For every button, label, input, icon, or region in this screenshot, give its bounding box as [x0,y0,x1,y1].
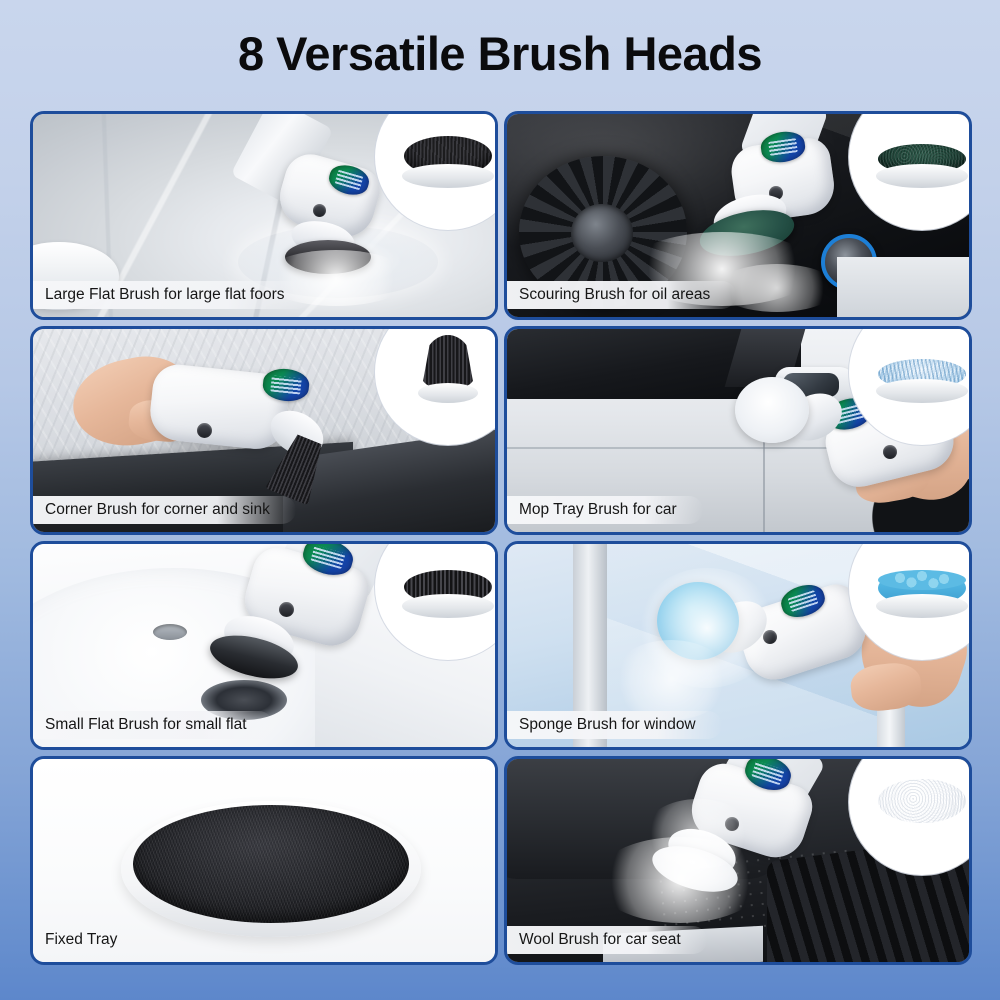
power-button[interactable] [763,630,777,644]
white-wool-pad-icon [874,771,970,833]
attached-mop-tray-pad [735,377,809,443]
black-velcro-tray-disc-icon [133,805,409,923]
panel-mop-tray-brush[interactable]: Mop Tray Brush for car [504,326,972,535]
power-button[interactable] [883,445,897,459]
panel-sponge-brush[interactable]: Sponge Brush for window [504,541,972,750]
panel-caption: Mop Tray Brush for car [507,496,703,524]
attached-sponge-head [657,582,739,660]
green-scouring-pad-icon [874,126,970,188]
panel-corner-brush[interactable]: Corner Brush for corner and sink [30,326,498,535]
page-title: 8 Versatile Brush Heads [0,26,1000,81]
overflow-hole [153,624,187,640]
panel-wool-brush[interactable]: Wool Brush for car seat [504,756,972,965]
door-watermark [527,421,532,435]
panel-caption: Sponge Brush for window [507,711,722,739]
panel-scouring-brush[interactable]: Scouring Brush for oil areas [504,111,972,320]
panel-caption: Wool Brush for car seat [507,926,707,954]
burner-cap [571,204,633,262]
panel-caption: Fixed Tray [33,926,143,954]
power-button[interactable] [313,204,326,217]
panel-caption: Scouring Brush for oil areas [507,281,736,309]
panel-caption: Large Flat Brush for large flat foors [33,281,311,309]
attached-brush-head [285,240,371,274]
blue-microfiber-mop-pad-icon [874,341,970,403]
panel-small-flat-brush[interactable]: Small Flat Brush for small flat [30,541,498,750]
panel-fixed-tray[interactable]: Fixed Tray [30,756,498,965]
blue-honeycomb-sponge-icon [874,556,970,618]
corner-cone-brush-head-icon [400,341,496,403]
power-button[interactable] [725,817,739,831]
large-flat-brush-head-icon [400,126,496,188]
power-button[interactable] [279,602,294,617]
small-flat-brush-head-icon [400,556,496,618]
brush-head-panel-grid: Large Flat Brush for large flat foors [27,108,973,974]
panel-caption: Corner Brush for corner and sink [33,496,296,524]
panel-large-flat-brush[interactable]: Large Flat Brush for large flat foors [30,111,498,320]
power-button[interactable] [197,423,212,438]
panel-caption: Small Flat Brush for small flat [33,711,273,739]
